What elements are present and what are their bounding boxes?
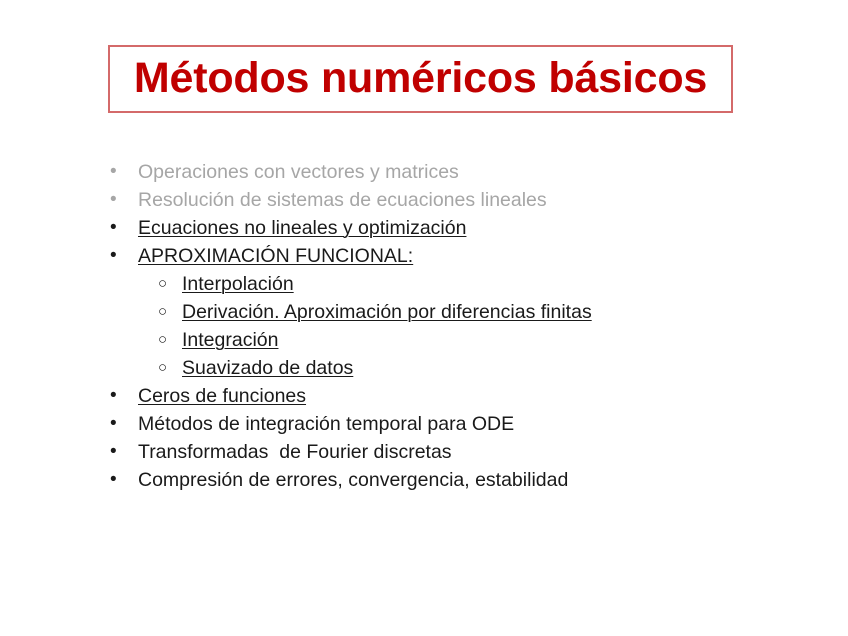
sub-list-item: ○Derivación. Aproximación por diferencia… (110, 298, 810, 326)
list-item-label: Operaciones con vectores y matrices (138, 158, 459, 186)
bullet-list: •Operaciones con vectores y matrices•Res… (110, 158, 810, 494)
list-item: •Ceros de funciones (110, 382, 810, 410)
list-item: •Ecuaciones no lineales y optimización (110, 214, 810, 242)
sub-list-item: ○Interpolación (110, 270, 810, 298)
bullet-icon: • (110, 466, 138, 494)
list-item-label: Transformadas de Fourier discretas (138, 438, 452, 466)
bullet-icon: • (110, 242, 138, 270)
bullet-icon: • (110, 382, 138, 410)
list-item: •Resolución de sistemas de ecuaciones li… (110, 186, 810, 214)
list-item: •Operaciones con vectores y matrices (110, 158, 810, 186)
page-title: Métodos numéricos básicos (134, 56, 707, 101)
list-item-label: Ecuaciones no lineales y optimización (138, 214, 466, 242)
list-item: •Métodos de integración temporal para OD… (110, 410, 810, 438)
hollow-bullet-icon: ○ (158, 298, 182, 326)
list-item-label: Resolución de sistemas de ecuaciones lin… (138, 186, 547, 214)
sub-list-item: ○Suavizado de datos (110, 354, 810, 382)
list-item: •Compresión de errores, convergencia, es… (110, 466, 810, 494)
list-item: •APROXIMACIÓN FUNCIONAL: (110, 242, 810, 270)
sub-list-item-label: Interpolación (182, 270, 294, 298)
sub-list-item-label: Suavizado de datos (182, 354, 353, 382)
list-item-label: APROXIMACIÓN FUNCIONAL: (138, 242, 413, 270)
hollow-bullet-icon: ○ (158, 326, 182, 354)
bullet-icon: • (110, 438, 138, 466)
list-item-label: Compresión de errores, convergencia, est… (138, 466, 568, 494)
bullet-icon: • (110, 158, 138, 186)
list-item-label: Ceros de funciones (138, 382, 306, 410)
list-item: •Transformadas de Fourier discretas (110, 438, 810, 466)
bullet-icon: • (110, 186, 138, 214)
sub-list-item-label: Derivación. Aproximación por diferencias… (182, 298, 592, 326)
list-item-label: Métodos de integración temporal para ODE (138, 410, 514, 438)
sub-list-item-label: Integración (182, 326, 278, 354)
slide-canvas: Métodos numéricos básicos •Operaciones c… (0, 0, 848, 636)
hollow-bullet-icon: ○ (158, 270, 182, 298)
sub-list-item: ○Integración (110, 326, 810, 354)
bullet-icon: • (110, 214, 138, 242)
hollow-bullet-icon: ○ (158, 354, 182, 382)
title-box: Métodos numéricos básicos (108, 45, 733, 113)
bullet-icon: • (110, 410, 138, 438)
